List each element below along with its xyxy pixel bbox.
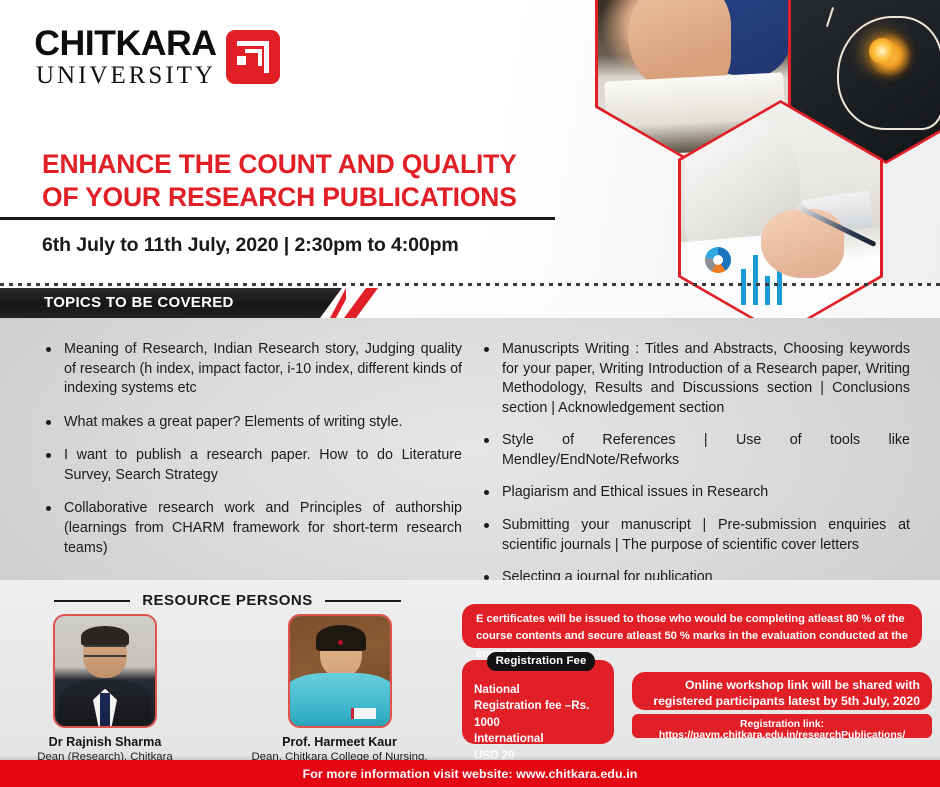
topics-body: Meaning of Research, Indian Research sto… [0, 318, 940, 580]
avatar [288, 614, 392, 728]
topics-heading-banner: TOPICS TO BE COVERED [0, 288, 342, 318]
fee-international-label: International [474, 731, 614, 747]
list-item: Manuscripts Writing : Titles and Abstrac… [480, 340, 910, 418]
list-item: Style of References | Use of tools like … [480, 431, 910, 470]
topics-column-right: Manuscripts Writing : Titles and Abstrac… [480, 340, 910, 601]
banner-accent-slash-2 [344, 288, 378, 318]
list-item: Plagiarism and Ethical issues in Researc… [480, 483, 910, 503]
chitkara-emblem-icon [226, 30, 280, 84]
certificate-note-card: E certificates will be issued to those w… [462, 604, 922, 648]
resource-persons-heading-text: RESOURCE PERSONS [142, 592, 313, 609]
workshop-link-note-card: Online workshop link will be shared with… [632, 672, 932, 710]
registration-fee-badge: Registration Fee [487, 652, 595, 671]
poster-root: IDEA CHITKARA UNIVERSITY ENHANCE [0, 0, 940, 787]
list-item: What makes a great paper? Elements of wr… [42, 413, 462, 433]
logo-primary-text: CHITKARA [34, 26, 218, 61]
fee-national-amount: Registration fee –Rs. 1000 [474, 698, 614, 731]
registration-fee-card: National Registration fee –Rs. 1000 Inte… [462, 660, 614, 744]
fee-national-label: National [474, 682, 614, 698]
chitkara-university-logo: CHITKARA UNIVERSITY [36, 26, 280, 88]
resource-person-name: Dr Rajnish Sharma [20, 735, 190, 749]
poster-title: ENHANCE THE COUNT AND QUALITY OF YOUR RE… [42, 148, 562, 213]
heading-rule-left [54, 600, 130, 602]
footer-bar: For more information visit website: www.… [0, 760, 940, 787]
dotted-divider [0, 283, 940, 286]
poster-title-line-2: OF YOUR RESEARCH PUBLICATIONS [42, 181, 562, 214]
registration-link-url[interactable]: https://paym.chitkara.edu.in/researchPub… [659, 730, 905, 741]
resource-persons-heading: RESOURCE PERSONS [0, 592, 455, 609]
topics-column-left: Meaning of Research, Indian Research sto… [42, 340, 462, 572]
avatar [53, 614, 157, 728]
list-item: Collaborative research work and Principl… [42, 499, 462, 558]
registration-link-label: Registration link: [740, 719, 824, 730]
resource-person-name: Prof. Harmeet Kaur [232, 735, 447, 749]
event-datetime: 6th July to 11th July, 2020 | 2:30pm to … [42, 234, 459, 257]
topics-heading-text: TOPICS TO BE COVERED [44, 294, 234, 311]
resource-person-card-1: Dr Rajnish Sharma Dean (Research), Chitk… [20, 614, 190, 775]
idea-text: IDEA [856, 0, 915, 1]
title-divider [0, 217, 555, 220]
heading-rule-right [325, 600, 401, 602]
poster-title-line-1: ENHANCE THE COUNT AND QUALITY [42, 148, 562, 181]
logo-secondary-text: UNIVERSITY [36, 63, 216, 88]
list-item: Submitting your manuscript | Pre-submiss… [480, 516, 910, 555]
list-item: Meaning of Research, Indian Research sto… [42, 340, 462, 399]
footer-text: For more information visit website: www.… [303, 767, 638, 781]
registration-link-card[interactable]: Registration link: https://paym.chitkara… [632, 714, 932, 738]
resource-person-card-2: Prof. Harmeet Kaur Dean, Chitkara Colleg… [232, 614, 447, 775]
list-item: I want to publish a research paper. How … [42, 446, 462, 485]
